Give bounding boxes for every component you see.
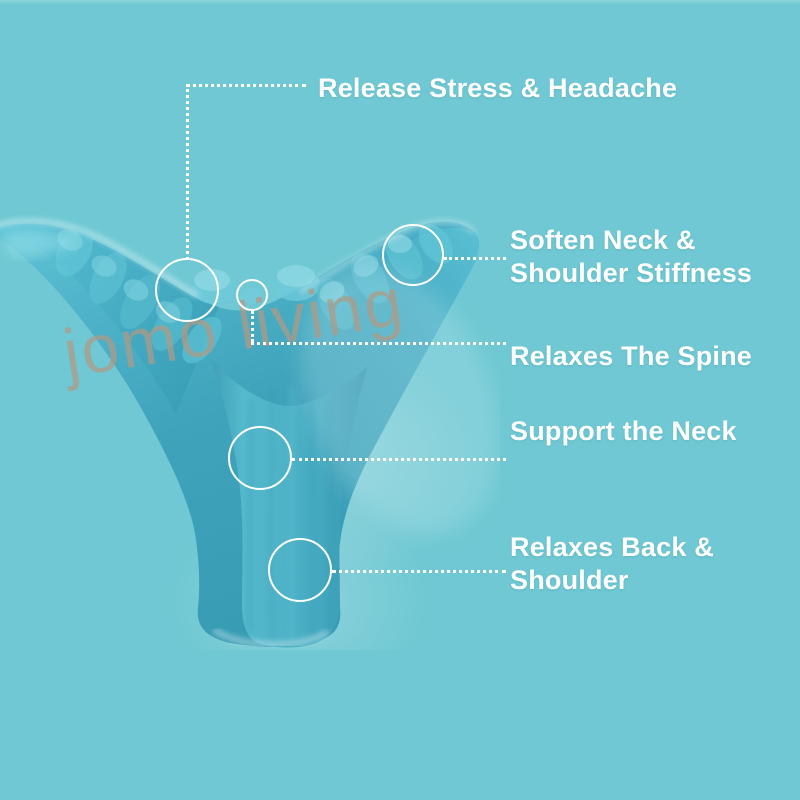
label-support-the-neck: Support the Neck <box>510 415 737 448</box>
infographic-canvas: jomo living Release Stress & Headache So… <box>0 0 800 800</box>
label-release-stress-headache: Release Stress & Headache <box>318 72 677 105</box>
label-relaxes-back-shoulder: Relaxes Back & Shoulder <box>510 531 714 597</box>
connector-release-stress-vertical <box>186 84 189 260</box>
hotspot-relaxes-back-shoulder[interactable] <box>268 538 332 602</box>
connector-relaxes-spine-horizontal <box>251 342 506 345</box>
connector-relaxes-spine-vertical <box>251 311 254 342</box>
connector-release-stress-horizontal <box>186 84 306 87</box>
hotspot-soften-neck-shoulder[interactable] <box>382 224 444 286</box>
connector-support-the-neck <box>292 458 506 461</box>
top-edge-highlight <box>0 0 800 5</box>
connector-relaxes-back-shoulder <box>332 570 506 573</box>
connector-soften-neck-shoulder <box>444 257 506 260</box>
label-soften-neck-shoulder-stiffness: Soften Neck & Shoulder Stiffness <box>510 224 752 290</box>
hotspot-support-the-neck[interactable] <box>228 426 292 490</box>
hotspot-release-stress-headache[interactable] <box>155 258 219 322</box>
label-relaxes-the-spine: Relaxes The Spine <box>510 340 752 373</box>
hotspot-relaxes-the-spine[interactable] <box>236 279 268 311</box>
